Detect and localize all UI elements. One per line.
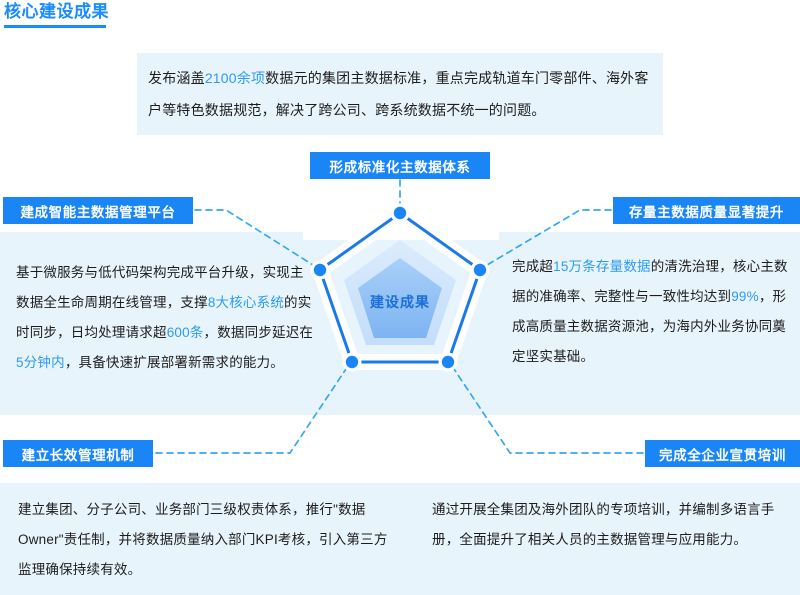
highlight-text: 5分钟内 (16, 355, 65, 370)
highlight-text: 600条 (167, 325, 204, 340)
top-summary-text: 发布涵盖2100余项数据元的集团主数据标准，重点完成轨道车门零部件、海外客户等特… (148, 62, 658, 126)
chip-data-quality-improved[interactable]: 存量主数据质量显著提升 (613, 197, 800, 224)
page-title: 核心建设成果 (4, 0, 109, 24)
pentagon-center-label: 建设成果 (352, 292, 448, 312)
plain-text: 建立集团、分子公司、业务部门三级权责体系，推行"数据Owner"责任制，并将数据… (18, 502, 388, 577)
node-top-halo (391, 204, 410, 223)
chip-enterprise-training[interactable]: 完成全企业宣贯培训 (645, 440, 800, 467)
right-upper-text: 完成超15万条存量数据的清洗治理，核心主数据的准确率、完整性与一致性均达到99%… (512, 252, 792, 372)
highlight-text: 15万条存量数据 (553, 259, 651, 274)
title-underline (4, 25, 106, 28)
left-lower-text: 建立集团、分子公司、业务部门三级权责体系，推行"数据Owner"责任制，并将数据… (18, 495, 390, 585)
highlight-text: 8大核心系统 (208, 295, 284, 310)
highlight-text: 2100余项 (205, 70, 265, 86)
plain-text: 发布涵盖 (148, 70, 205, 86)
plain-text: ，数据同步延迟在 (204, 325, 314, 340)
chip-form-standard-system[interactable]: 形成标准化主数据体系 (310, 152, 490, 179)
plain-text: ，具备快速扩展部署新需求的能力。 (65, 355, 284, 370)
chip-long-term-mechanism[interactable]: 建立长效管理机制 (3, 440, 153, 467)
plain-text: 完成超 (512, 259, 553, 274)
left-upper-text: 基于微服务与低代码架构完成平台升级，实现主数据全生命周期在线管理，支撑8大核心系… (16, 258, 316, 378)
plain-text: 通过开展全集团及海外团队的专项培训，并编制多语言手册，全面提升了相关人员的主数据… (432, 502, 775, 547)
node-top[interactable] (394, 207, 406, 219)
chip-built-platform[interactable]: 建成智能主数据管理平台 (3, 197, 193, 224)
panel-notch (303, 232, 499, 240)
highlight-text: 99% (731, 289, 759, 304)
right-lower-text: 通过开展全集团及海外团队的专项培训，并编制多语言手册，全面提升了相关人员的主数据… (432, 495, 788, 555)
